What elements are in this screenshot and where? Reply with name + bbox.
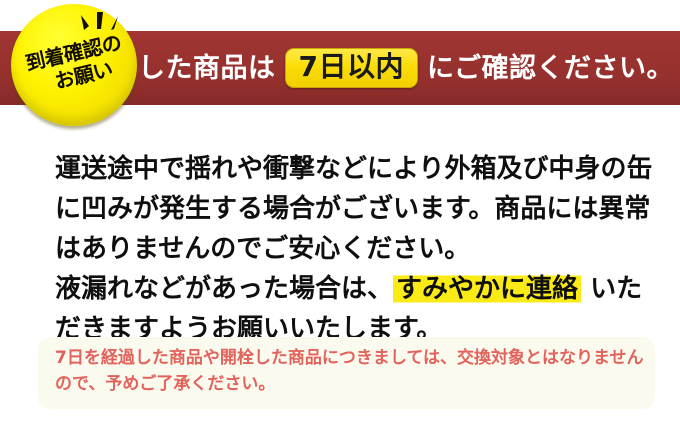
leak-prefix-text: 液漏れなどがあった場合は、 [55,274,393,304]
header-deadline-chip: 7日以内 [285,48,418,88]
body-paragraph-damage: 運送途中で揺れや衝撃などにより外箱及び中身の缶に凹みが発生する場合がございます。… [55,149,655,269]
emphasis-strokes-icon [80,12,120,34]
seal-text: 到着確認の お願い [0,0,149,139]
footnote-text: 7日を経過した商品や開栓した商品につきましては、交換対象とはなりませんので、予め… [55,345,655,397]
body-text-block: 運送途中で揺れや衝撃などにより外箱及び中身の缶に凹みが発生する場合がございます。… [55,149,655,349]
leak-highlight-text: すみやかに連絡 [393,274,581,304]
header-message: 到着した商品は 7日以内 にご確認ください。 [83,48,674,88]
header-suffix-text: にご確認ください。 [427,55,674,82]
arrival-confirmation-banner: 到着した商品は 7日以内 にご確認ください。 到着確認の お願い 運送途中で揺れ… [0,0,680,421]
